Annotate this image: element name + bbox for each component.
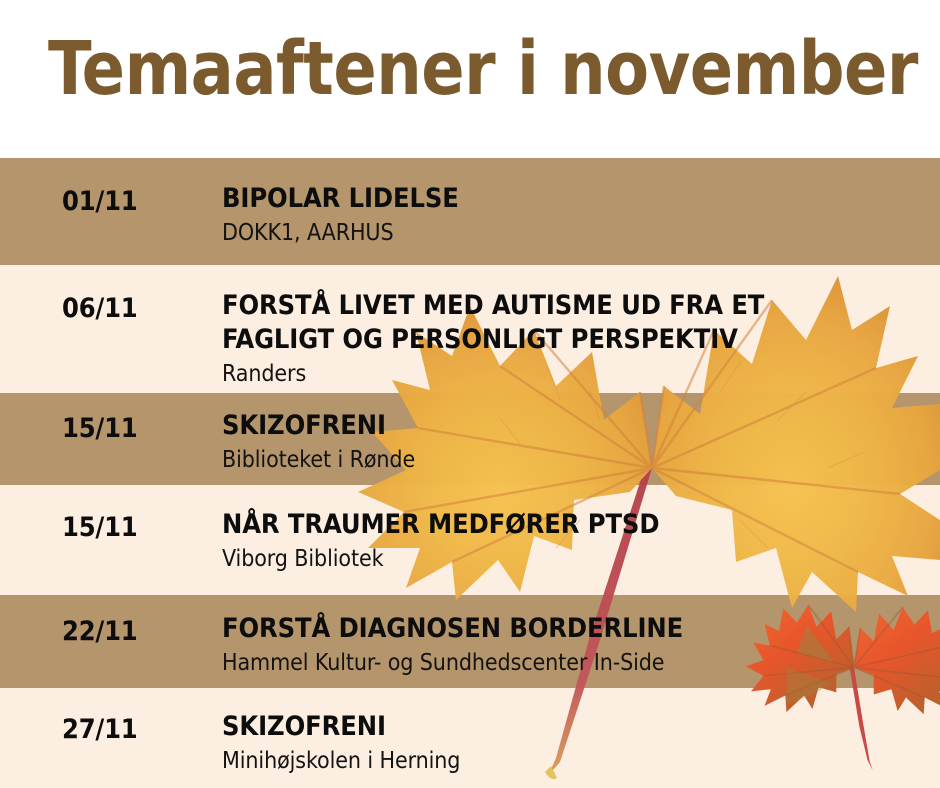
event-venue: Randers xyxy=(222,359,930,389)
schedule-row[interactable]: 15/11 SKIZOFRENI Biblioteket i Rønde xyxy=(0,393,940,485)
event-title: FORSTÅ DIAGNOSEN BORDERLINE xyxy=(222,612,930,646)
event-venue: Viborg Bibliotek xyxy=(222,544,930,574)
page-title: Temaaftener i november xyxy=(48,26,918,112)
event-title: SKIZOFRENI xyxy=(222,710,930,744)
event-date: 15/11 xyxy=(62,512,137,544)
event-date: 01/11 xyxy=(62,186,137,218)
event-title: BIPOLAR LIDELSE xyxy=(222,182,930,216)
event-date: 22/11 xyxy=(62,616,137,648)
schedule-row[interactable]: 27/11 SKIZOFRENI Minihøjskolen i Herning xyxy=(0,688,940,788)
schedule-row[interactable]: 22/11 FORSTÅ DIAGNOSEN BORDERLINE Hammel… xyxy=(0,595,940,688)
event-date: 15/11 xyxy=(62,413,137,445)
event-date: 27/11 xyxy=(62,714,137,746)
poster-canvas: Temaaftener i november 01/11 BIPOLAR LID… xyxy=(0,0,940,788)
event-venue: Hammel Kultur- og Sundhedscenter In-Side xyxy=(222,648,930,678)
event-title: FORSTÅ LIVET MED AUTISME UD FRA ET FAGLI… xyxy=(222,289,822,357)
event-info: FORSTÅ DIAGNOSEN BORDERLINE Hammel Kultu… xyxy=(222,612,930,678)
event-venue: Minihøjskolen i Herning xyxy=(222,746,930,776)
event-info: SKIZOFRENI Biblioteket i Rønde xyxy=(222,409,930,475)
event-title: NÅR TRAUMER MEDFØRER PTSD xyxy=(222,508,930,542)
event-info: BIPOLAR LIDELSE DOKK1, AARHUS xyxy=(222,182,930,248)
event-info: NÅR TRAUMER MEDFØRER PTSD Viborg Bibliot… xyxy=(222,508,930,574)
event-info: FORSTÅ LIVET MED AUTISME UD FRA ET FAGLI… xyxy=(222,289,930,389)
schedule-row[interactable]: 06/11 FORSTÅ LIVET MED AUTISME UD FRA ET… xyxy=(0,265,940,393)
event-venue: DOKK1, AARHUS xyxy=(222,218,930,248)
title-banner: Temaaftener i november xyxy=(0,0,940,158)
schedule-row[interactable]: 15/11 NÅR TRAUMER MEDFØRER PTSD Viborg B… xyxy=(0,485,940,595)
event-venue: Biblioteket i Rønde xyxy=(222,445,930,475)
schedule-text-layer: 01/11 BIPOLAR LIDELSE DOKK1, AARHUS 06/1… xyxy=(0,158,940,788)
event-title: SKIZOFRENI xyxy=(222,409,930,443)
event-date: 06/11 xyxy=(62,293,137,325)
schedule-row[interactable]: 01/11 BIPOLAR LIDELSE DOKK1, AARHUS xyxy=(0,158,940,265)
event-info: SKIZOFRENI Minihøjskolen i Herning xyxy=(222,710,930,776)
